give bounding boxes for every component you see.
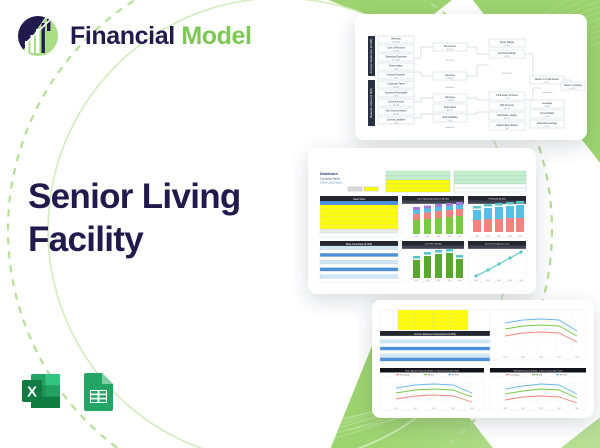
svg-text:8,900: 8,900 — [393, 95, 399, 97]
svg-text:2024: 2024 — [539, 408, 543, 410]
svg-text:51,000: 51,000 — [393, 50, 400, 52]
svg-text:2023: 2023 — [486, 236, 490, 238]
svg-text:60.4%: 60.4% — [504, 45, 510, 47]
svg-text:Return on Equity: Return on Equity — [564, 84, 583, 87]
svg-text:2024: 2024 — [437, 236, 441, 238]
svg-text:multiplied by: multiplied by — [541, 91, 552, 94]
svg-text:Cost of Revenue: Cost of Revenue — [387, 47, 405, 50]
svg-text:2024: 2024 — [497, 280, 501, 282]
svg-text:2025: 2025 — [448, 280, 452, 282]
svg-text:Net Profit Margin: Net Profit Margin — [498, 52, 517, 55]
svg-text:2025: 2025 — [451, 408, 455, 410]
svg-text:99.25: 99.25 — [544, 126, 550, 128]
page-title: Senior Living Facility — [28, 176, 241, 261]
screenshot-card-charts[interactable]: Income Statement Assumptions ($ 000) Gro… — [372, 300, 594, 418]
svg-text:Total Assets: Total Assets — [444, 106, 458, 109]
svg-text:1,380: 1,380 — [393, 68, 399, 70]
svg-text:2024: 2024 — [497, 236, 501, 238]
svg-text:2026: 2026 — [518, 236, 522, 238]
svg-text:2024: 2024 — [539, 357, 543, 359]
svg-text:104.04: 104.04 — [504, 108, 511, 110]
svg-text:2026: 2026 — [470, 408, 474, 410]
svg-text:Total Asset Turnover: Total Asset Turnover — [496, 94, 518, 97]
charts-screenshot: Income Statement Assumptions ($ 000) Gro… — [372, 300, 594, 418]
svg-text:Cash Flow: Cash Flow — [353, 197, 365, 201]
svg-text:Return on Total Assets: Return on Total Assets — [535, 78, 560, 81]
svg-text:Company Name: Company Name — [320, 177, 341, 181]
headline-line-2: Facility — [28, 219, 241, 262]
google-sheets-icon[interactable] — [78, 368, 118, 419]
svg-text:2025: 2025 — [557, 408, 561, 410]
svg-text:Cash Flow ($ 000): Cash Flow ($ 000) — [425, 244, 442, 246]
svg-text:Current Liabilities: Current Liabilities — [387, 119, 406, 122]
svg-text:(6.3%): (6.3%) — [504, 56, 510, 58]
svg-text:9,912: 9,912 — [393, 122, 399, 124]
svg-text:1.48%: 1.48% — [544, 106, 550, 108]
svg-text:Revenue: Revenue — [445, 74, 455, 77]
svg-text:2022: 2022 — [415, 280, 419, 282]
headline-line-1: Senior Living — [28, 176, 241, 219]
svg-text:Income Statement Assumptions (: Income Statement Assumptions ($ 000) — [414, 333, 456, 336]
svg-text:2026: 2026 — [458, 236, 462, 238]
svg-text:68,270: 68,270 — [504, 118, 511, 120]
screenshot-card-dupont-tree[interactable]: Income Statement ($ 000) Balance Sheet (… — [355, 14, 587, 140]
brand-word-financial: Financial — [70, 22, 175, 50]
svg-text:134,860: 134,860 — [446, 78, 454, 80]
svg-text:2023: 2023 — [413, 408, 417, 410]
svg-text:Total Debt + Equity: Total Debt + Equity — [497, 114, 518, 117]
svg-text:12.7%: 12.7% — [544, 82, 550, 84]
brand-wordmark: Financial Model — [70, 24, 252, 49]
svg-text:23,084: 23,084 — [393, 104, 400, 106]
svg-text:134,860: 134,860 — [446, 100, 454, 102]
svg-text:2023: 2023 — [521, 357, 525, 359]
dupont-tree-diagram: Income Statement ($ 000) Balance Sheet (… — [355, 14, 587, 140]
svg-text:16.08: 16.08 — [544, 116, 550, 118]
svg-text:2024: 2024 — [437, 280, 441, 282]
svg-text:2,660: 2,660 — [447, 120, 453, 122]
svg-text:(6.31%): (6.31%) — [446, 60, 453, 62]
svg-text:divided by: divided by — [445, 87, 454, 89]
svg-text:2026: 2026 — [458, 280, 462, 282]
svg-text:Dashboard: Dashboard — [320, 172, 338, 176]
svg-text:(5.05231%): (5.05231%) — [502, 73, 513, 75]
svg-text:Shareholders Equity: Shareholders Equity — [496, 124, 518, 127]
svg-text:2022: 2022 — [503, 357, 507, 359]
svg-text:Revenue: Revenue — [445, 96, 455, 99]
svg-text:(60.2%): (60.2%) — [569, 88, 576, 90]
svg-text:Total Liabilities: Total Liabilities — [442, 116, 458, 119]
svg-text:2023: 2023 — [426, 280, 430, 282]
brand-word-model: Model — [181, 22, 251, 50]
svg-text:EBITDA Projection ($ 000) - 5: EBITDA Projection ($ 000) - 5 Years to D… — [514, 370, 564, 373]
svg-text:Net Income: Net Income — [444, 45, 457, 48]
svg-text:2024: 2024 — [432, 408, 436, 410]
svg-text:2025: 2025 — [557, 357, 561, 359]
svg-text:68,270: 68,270 — [447, 110, 454, 112]
svg-text:2023: 2023 — [426, 236, 430, 238]
svg-text:Corporate Taxes: Corporate Taxes — [387, 83, 405, 86]
svg-text:2022: 2022 — [415, 236, 419, 238]
svg-text:Financial Leverage: Financial Leverage — [537, 122, 558, 125]
svg-text:Gross Margin: Gross Margin — [500, 41, 515, 44]
excel-icon[interactable]: X — [18, 368, 64, 419]
svg-text:(17,750): (17,750) — [392, 59, 400, 61]
svg-text:Current Assets: Current Assets — [388, 101, 404, 104]
svg-text:X: X — [27, 384, 37, 401]
svg-text:2023: 2023 — [486, 280, 490, 282]
svg-text:2026: 2026 — [575, 357, 579, 359]
svg-text:Depreciation: Depreciation — [389, 65, 403, 68]
svg-text:2022: 2022 — [474, 280, 478, 282]
screenshot-card-dashboard[interactable]: Dashboard Company Name Senior Living Fac… — [308, 148, 536, 294]
svg-text:2022: 2022 — [503, 408, 507, 410]
svg-text:2025: 2025 — [508, 236, 512, 238]
file-format-icons: X — [18, 368, 118, 419]
svg-text:Top 5 Operating Expenses ($ 00: Top 5 Operating Expenses ($ 000) — [417, 198, 449, 201]
banner-canvas: Financial Model Senior Living Facility X — [0, 0, 600, 448]
svg-text:Non-Current Assets: Non-Current Assets — [386, 110, 408, 113]
svg-text:125,000: 125,000 — [392, 41, 400, 43]
svg-text:(3,231): (3,231) — [393, 86, 400, 88]
circular-bar-chart-logo-icon — [16, 14, 60, 58]
svg-text:Gross Margin: Gross Margin — [400, 374, 410, 376]
logo-lockup[interactable]: Financial Model — [16, 14, 252, 58]
svg-text:Income Statement ($ 000): Income Statement ($ 000) — [369, 39, 373, 74]
svg-text:Profitability ($ 000): Profitability ($ 000) — [488, 198, 506, 201]
svg-text:Accounts Receivable: Accounts Receivable — [385, 92, 408, 95]
svg-text:Base Financials ($ 000): Base Financials ($ 000) — [346, 243, 372, 246]
svg-text:Leverage: Leverage — [542, 102, 553, 105]
svg-text:A/R Turnover: A/R Turnover — [500, 104, 514, 107]
svg-text:divided by: divided by — [445, 127, 454, 129]
svg-text:2026: 2026 — [575, 408, 579, 410]
svg-text:Gross Margin: Gross Margin — [510, 374, 520, 376]
svg-text:2025: 2025 — [508, 280, 512, 282]
svg-text:2026: 2026 — [519, 280, 523, 282]
svg-text:Gross Margin Projection ($ 000: Gross Margin Projection ($ 000) - 5 Year… — [405, 370, 460, 373]
svg-text:2022: 2022 — [394, 408, 398, 410]
svg-text:2025: 2025 — [448, 236, 452, 238]
dashboard-screenshot: Dashboard Company Name Senior Living Fac… — [308, 148, 536, 294]
svg-text:Current Ratio: Current Ratio — [540, 112, 555, 115]
svg-text:Interest Expense: Interest Expense — [387, 74, 406, 77]
svg-text:2022: 2022 — [475, 236, 479, 238]
svg-text:(8,511): (8,511) — [447, 49, 454, 51]
svg-text:Operating Expenses: Operating Expenses — [385, 56, 407, 59]
svg-text:Investment Payback / Cash: Investment Payback / Cash — [485, 243, 509, 246]
svg-text:Senior Living Facility: Senior Living Facility — [320, 182, 343, 185]
svg-text:Revenue: Revenue — [391, 38, 401, 41]
svg-text:Balance Sheet ($ 000): Balance Sheet ($ 000) — [369, 88, 373, 118]
svg-text:2023: 2023 — [521, 408, 525, 410]
svg-text:47,200: 47,200 — [393, 113, 400, 115]
